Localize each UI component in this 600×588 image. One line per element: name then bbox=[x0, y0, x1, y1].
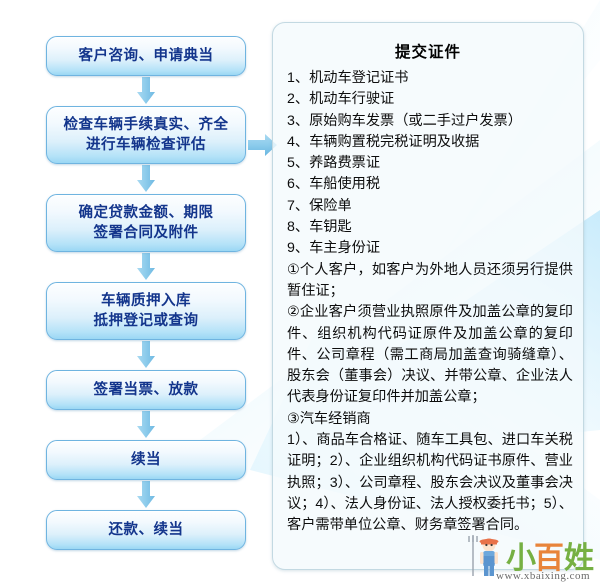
watermark-url: www.xbaixing.com bbox=[496, 570, 590, 582]
arrow-down-icon bbox=[136, 165, 156, 193]
arrow-down-icon bbox=[136, 341, 156, 369]
flow-step-4[interactable]: 车辆质押入库 抵押登记或查询 bbox=[46, 282, 246, 340]
document-item: 6、车船使用税 bbox=[287, 174, 573, 195]
document-item: 5、养路费票证 bbox=[287, 153, 573, 174]
flow-step-5-line-1: 签署当票、放款 bbox=[51, 380, 241, 400]
document-item: 4、车辆购置税完税证明及收据 bbox=[287, 132, 573, 153]
flow-step-3-line-2: 签署合同及附件 bbox=[51, 223, 241, 243]
arrow-down-icon bbox=[136, 481, 156, 509]
process-flow-column: 客户咨询、申请典当 检查车辆手续真实、齐全 进行车辆检查评估 确定贷款金额、期限… bbox=[46, 36, 246, 550]
flow-arrow-6 bbox=[46, 480, 246, 510]
document-item: 3、原始购车发票（或二手过户发票） bbox=[287, 111, 573, 132]
flow-step-1-line-1: 客户咨询、申请典当 bbox=[51, 46, 241, 66]
flow-arrow-2 bbox=[46, 164, 246, 194]
flow-step-4-line-1: 车辆质押入库 bbox=[51, 291, 241, 311]
flow-arrow-1 bbox=[46, 76, 246, 106]
flow-step-3[interactable]: 确定贷款金额、期限 签署合同及附件 bbox=[46, 194, 246, 252]
flow-arrow-4 bbox=[46, 340, 246, 370]
flow-step-2[interactable]: 检查车辆手续真实、齐全 进行车辆检查评估 bbox=[46, 106, 246, 164]
document-item: 8、车钥匙 bbox=[287, 217, 573, 238]
flow-step-2-line-1: 检查车辆手续真实、齐全 bbox=[51, 115, 241, 135]
flow-step-2-line-2: 进行车辆检查评估 bbox=[51, 135, 241, 155]
document-item: 7、保险单 bbox=[287, 196, 573, 217]
document-note-individual: ①个人客户，如客户为外地人员还须另行提供暂住证； bbox=[287, 260, 573, 303]
document-item: 2、机动车行驶证 bbox=[287, 89, 573, 110]
flow-arrow-3 bbox=[46, 252, 246, 282]
document-item: 9、车主身份证 bbox=[287, 238, 573, 259]
documents-panel: 提交证件 1、机动车登记证书 2、机动车行驶证 3、原始购车发票（或二手过户发票… bbox=[272, 22, 584, 570]
flow-arrow-5 bbox=[46, 410, 246, 440]
arrow-down-icon bbox=[136, 411, 156, 439]
flow-step-4-line-2: 抵押登记或查询 bbox=[51, 311, 241, 331]
document-note-dealer-detail: 1）、商品车合格证、随车工具包、进口车关税证明；2）、企业组织机构代码证书原件、… bbox=[287, 430, 573, 536]
flow-step-5[interactable]: 签署当票、放款 bbox=[46, 370, 246, 410]
document-item: 1、机动车登记证书 bbox=[287, 68, 573, 89]
documents-panel-body: 1、机动车登记证书 2、机动车行驶证 3、原始购车发票（或二手过户发票） 4、车… bbox=[273, 68, 583, 537]
flow-step-7-line-1: 还款、续当 bbox=[51, 520, 241, 540]
arrow-down-icon bbox=[136, 77, 156, 105]
flow-step-6-line-1: 续当 bbox=[51, 450, 241, 470]
flow-step-3-line-1: 确定贷款金额、期限 bbox=[51, 203, 241, 223]
flow-step-7[interactable]: 还款、续当 bbox=[46, 510, 246, 550]
flow-step-1[interactable]: 客户咨询、申请典当 bbox=[46, 36, 246, 76]
mascot-icon bbox=[469, 535, 499, 576]
document-note-enterprise: ②企业客户须营业执照原件及加盖公章的复印件、组织机构代码证原件及加盖公章的复印件… bbox=[287, 302, 573, 408]
documents-panel-title: 提交证件 bbox=[273, 40, 583, 62]
document-note-dealer-heading: ③汽车经销商 bbox=[287, 409, 573, 430]
flow-step-6[interactable]: 续当 bbox=[46, 440, 246, 480]
arrow-down-icon bbox=[136, 253, 156, 281]
